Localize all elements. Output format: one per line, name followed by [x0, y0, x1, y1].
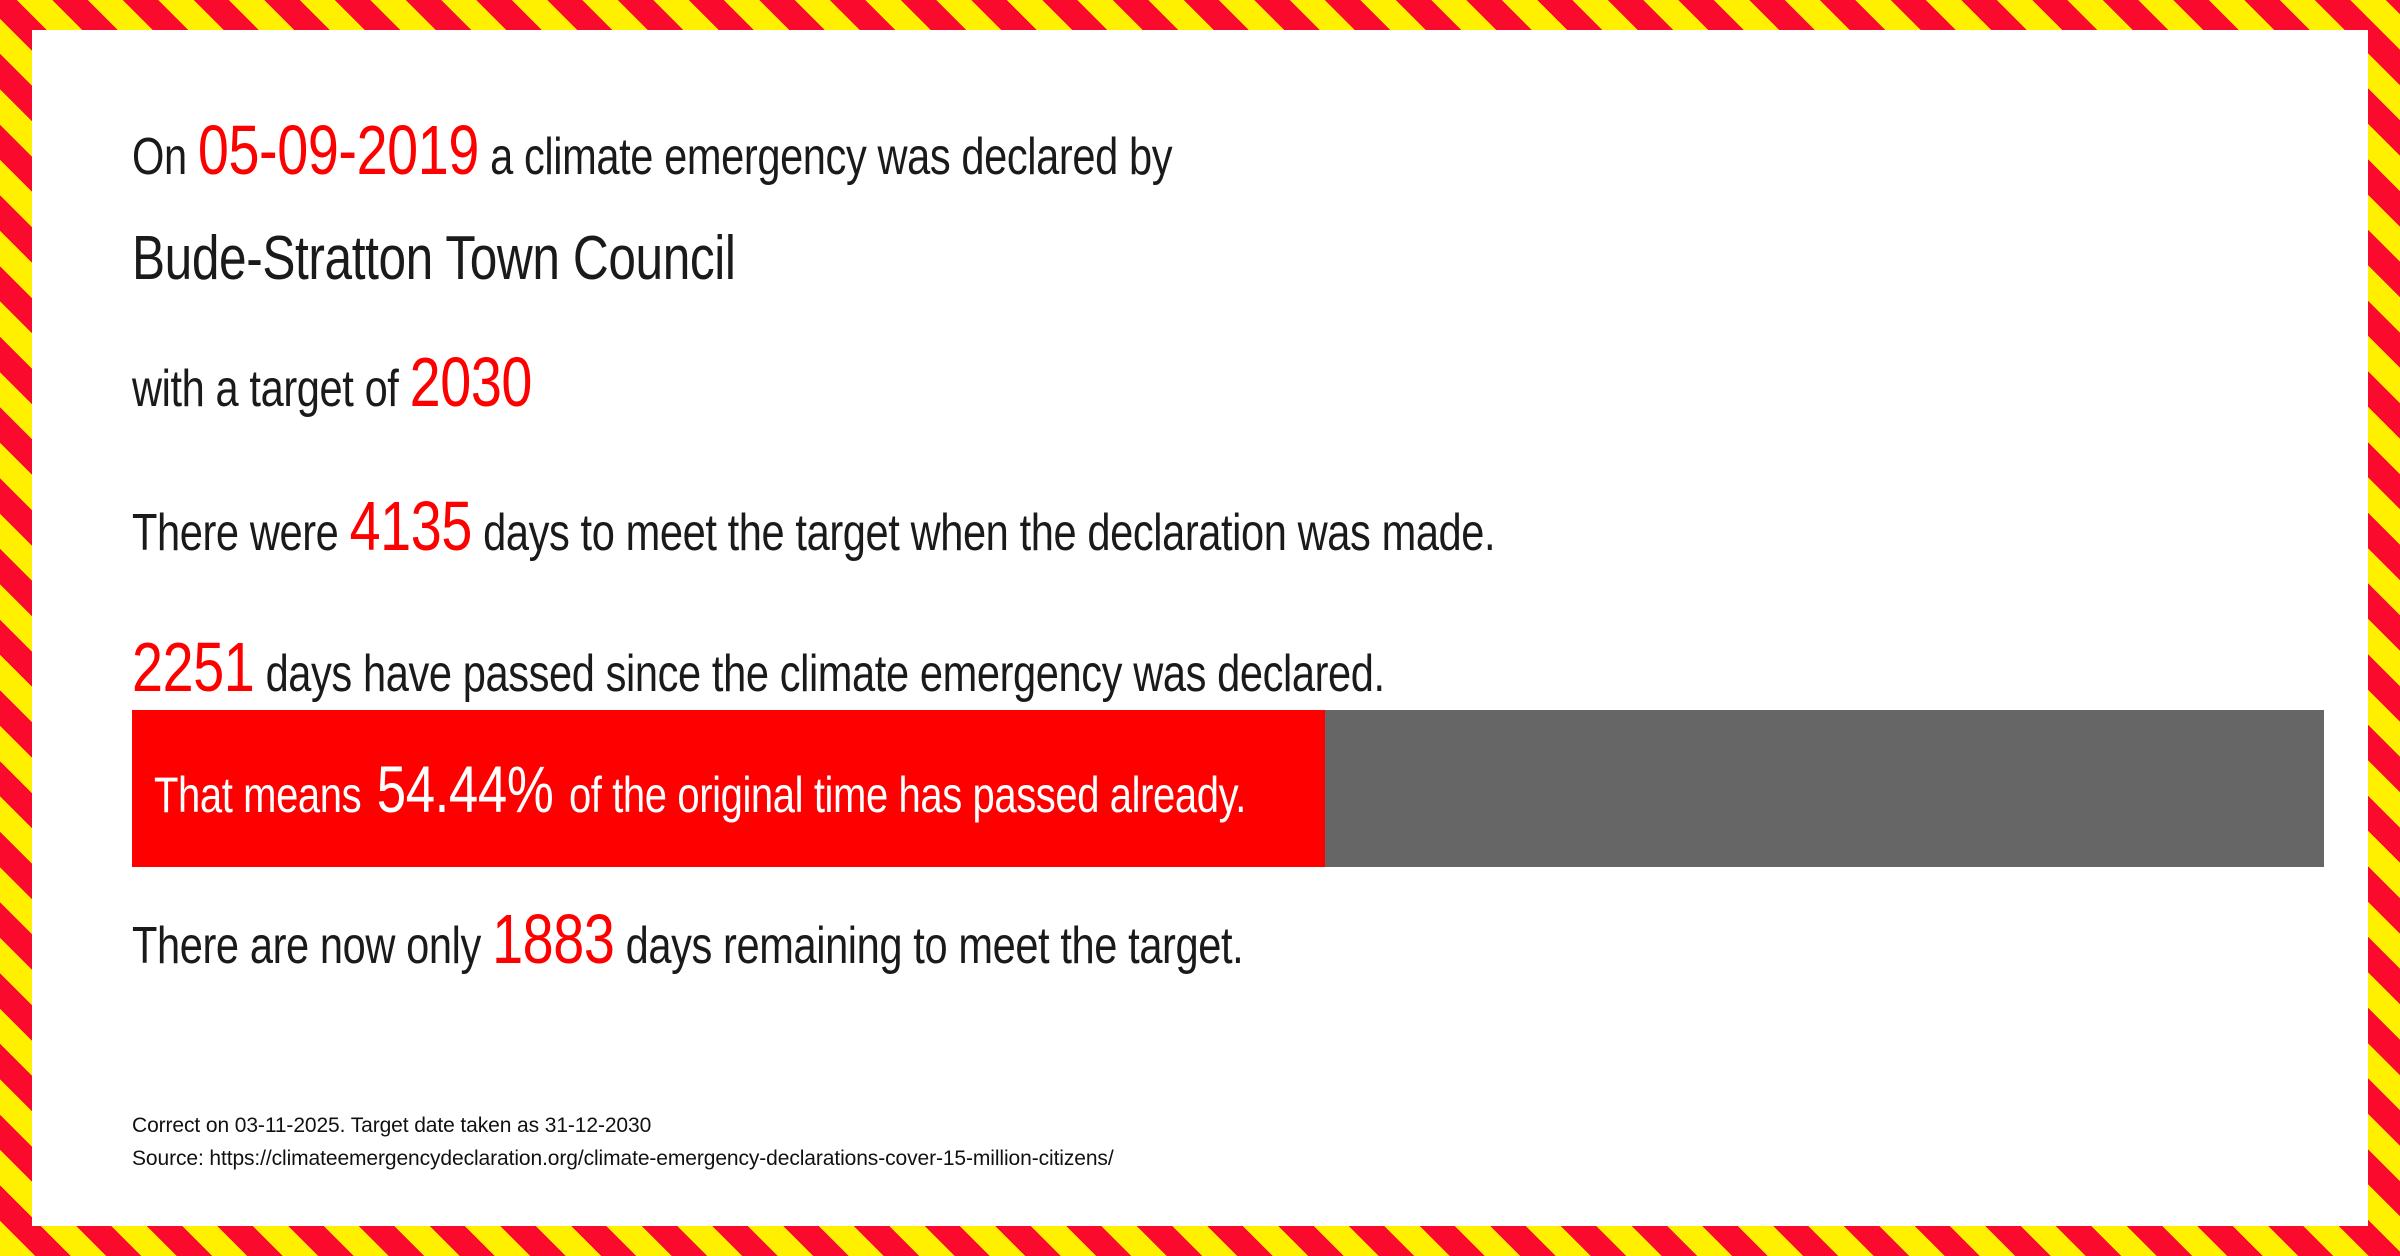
- progress-prefix: That means: [154, 767, 361, 823]
- footnote-block: Correct on 03-11-2025. Target date taken…: [132, 1110, 1114, 1175]
- progress-percent: 54.44%: [372, 752, 558, 826]
- poster-content: On 05-09-2019 a climate emergency was de…: [100, 30, 2328, 1226]
- days-remaining-prefix: There are now only: [132, 917, 481, 975]
- declaration-suffix: a climate emergency was declared by: [490, 128, 1172, 186]
- declaring-authority: Bude-Stratton Town Council: [132, 228, 736, 290]
- days-to-target-prefix: There were: [132, 504, 338, 562]
- target-prefix: with a target of: [132, 360, 398, 418]
- days-remaining-suffix: days remaining to meet the target.: [626, 917, 1244, 975]
- days-passed-value: 2251: [132, 628, 254, 706]
- declaration-date: 05-09-2019: [198, 111, 479, 189]
- days-remaining-value: 1883: [492, 900, 614, 978]
- days-passed-suffix: days have passed since the climate emerg…: [266, 645, 1385, 703]
- progress-bar-label: That means 54.44% of the original time h…: [154, 710, 1519, 867]
- footnote-correct-on: Correct on 03-11-2025. Target date taken…: [132, 1110, 1114, 1143]
- days-to-target-suffix: days to meet the target when the declara…: [483, 504, 1495, 562]
- poster-card: On 05-09-2019 a climate emergency was de…: [32, 30, 2368, 1226]
- footnote-source: Source: https://climateemergencydeclarat…: [132, 1143, 1114, 1176]
- time-elapsed-progress-bar: That means 54.44% of the original time h…: [132, 710, 2324, 867]
- target-year-line: with a target of 2030: [132, 348, 632, 418]
- declaration-date-line: On 05-09-2019 a climate emergency was de…: [132, 116, 1432, 186]
- days-to-target-value: 4135: [350, 487, 472, 565]
- poster-hazard-frame: On 05-09-2019 a climate emergency was de…: [0, 0, 2400, 1256]
- days-passed-line: 2251 days have passed since the climate …: [132, 633, 1698, 703]
- days-remaining-line: There are now only 1883 days remaining t…: [132, 905, 1521, 975]
- declaration-prefix: On: [132, 128, 187, 186]
- days-to-target-line: There were 4135 days to meet the target …: [132, 492, 1836, 562]
- progress-suffix: of the original time has passed already.: [569, 767, 1246, 823]
- declaring-authority-line: Bude-Stratton Town Council: [132, 228, 886, 290]
- target-year: 2030: [410, 343, 532, 421]
